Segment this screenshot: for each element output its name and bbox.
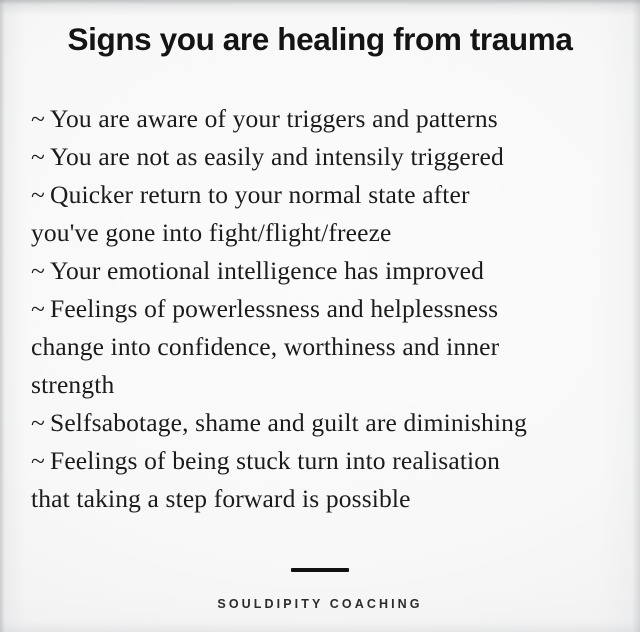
tilde-bullet-icon: ~ [31, 290, 50, 328]
list-item: ~Your emotional intelligence has improve… [31, 252, 611, 290]
list-item-text: Your emotional intelligence has improved [50, 256, 484, 285]
page-title: Signs you are healing from trauma [0, 21, 640, 58]
list-item-text: change into confidence, worthiness and i… [31, 332, 499, 361]
list-item: ~You are aware of your triggers and patt… [31, 100, 611, 138]
list-item-continuation: change into confidence, worthiness and i… [31, 328, 611, 366]
list-item-continuation: that taking a step forward is possible [31, 480, 611, 518]
list-item-text: Feelings of powerlessness and helplessne… [50, 294, 498, 323]
list-item: ~Selfsabotage, shame and guilt are dimin… [31, 404, 611, 442]
tilde-bullet-icon: ~ [31, 176, 50, 214]
list-item-text: Quicker return to your normal state afte… [50, 180, 470, 209]
list-item: ~You are not as easily and intensily tri… [31, 138, 611, 176]
footer-divider [291, 568, 349, 572]
list-item-text: that taking a step forward is possible [31, 484, 411, 513]
list-item: ~Feelings of being stuck turn into reali… [31, 442, 611, 480]
signs-list: ~You are aware of your triggers and patt… [31, 100, 611, 518]
list-item: ~Feelings of powerlessness and helplessn… [31, 290, 611, 328]
list-item-text: you've gone into fight/flight/freeze [31, 218, 392, 247]
tilde-bullet-icon: ~ [31, 404, 50, 442]
list-item-text: Selfsabotage, shame and guilt are dimini… [50, 408, 527, 437]
tilde-bullet-icon: ~ [31, 252, 50, 290]
tilde-bullet-icon: ~ [31, 100, 50, 138]
quote-poster: Signs you are healing from trauma ~You a… [0, 0, 640, 632]
list-item-text: strength [31, 370, 114, 399]
list-item-text: Feelings of being stuck turn into realis… [50, 446, 500, 475]
list-item-continuation: you've gone into fight/flight/freeze [31, 214, 611, 252]
tilde-bullet-icon: ~ [31, 442, 50, 480]
brand-name: SOULDIPITY COACHING [0, 597, 640, 611]
list-item-text: You are aware of your triggers and patte… [50, 104, 498, 133]
list-item-continuation: strength [31, 366, 611, 404]
list-item-text: You are not as easily and intensily trig… [50, 142, 504, 171]
list-item: ~Quicker return to your normal state aft… [31, 176, 611, 214]
tilde-bullet-icon: ~ [31, 138, 50, 176]
